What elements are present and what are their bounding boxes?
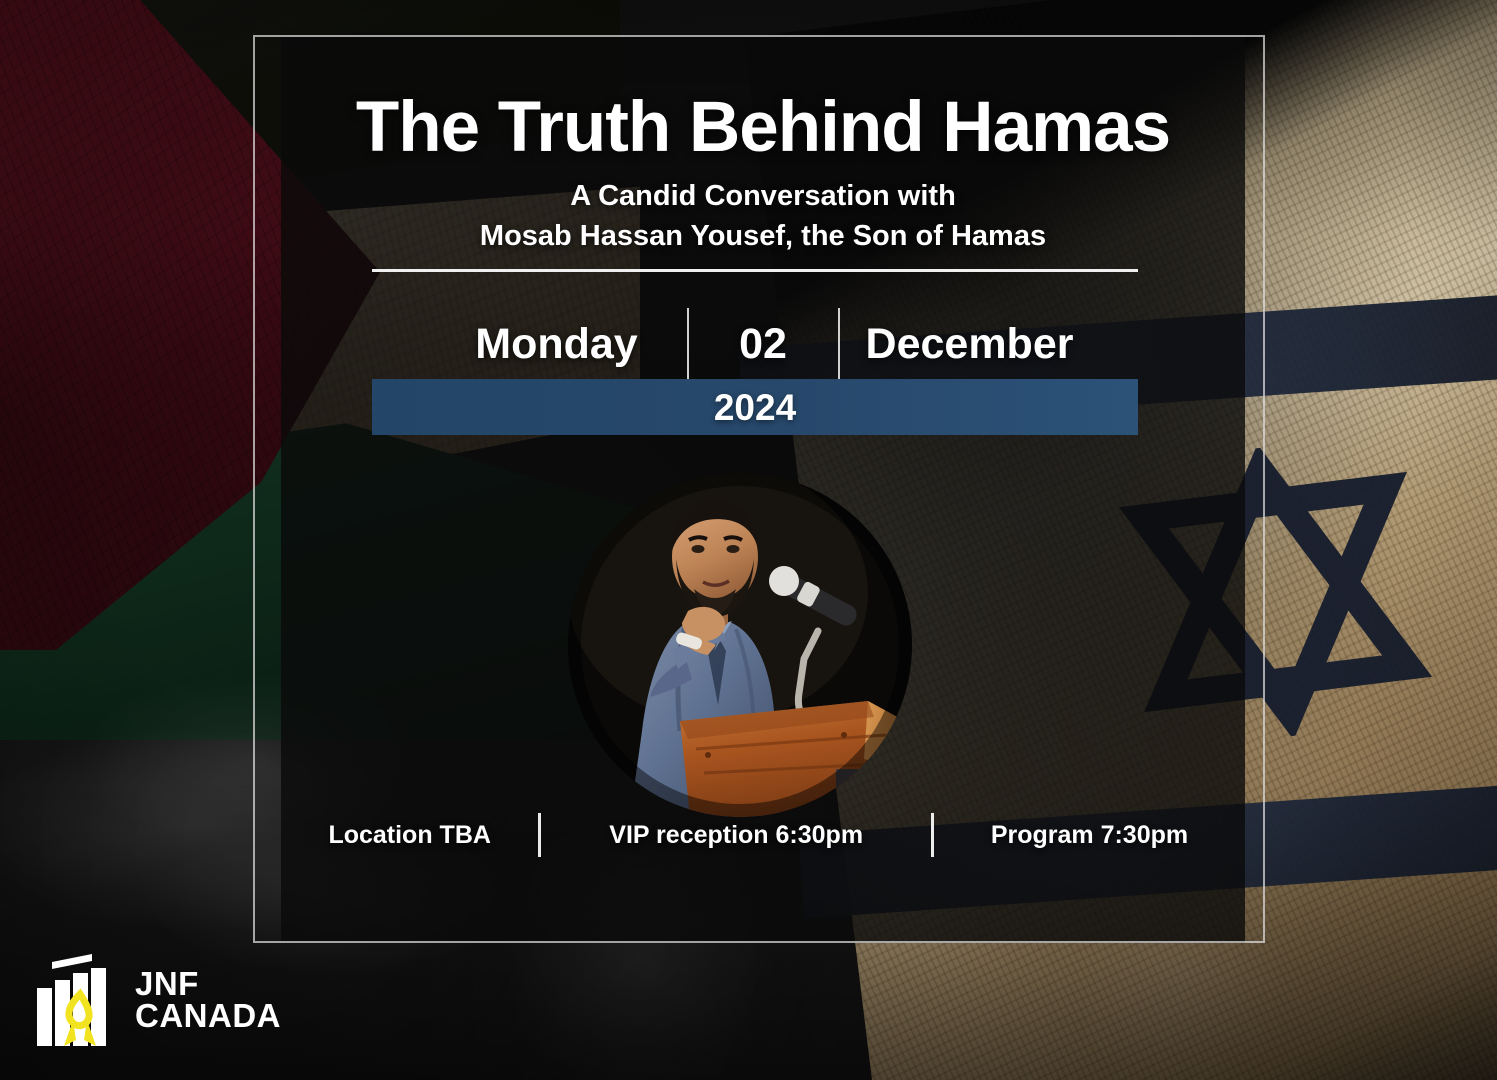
poster-subtitle: A Candid Conversation with Mosab Hassan … — [281, 176, 1245, 256]
event-location: Location TBA — [281, 823, 538, 848]
poster-content: The Truth Behind Hamas A Candid Conversa… — [281, 35, 1245, 943]
jnf-canada-logo: JNF CANADA — [36, 952, 281, 1048]
logo-line-1: JNF — [135, 968, 281, 1000]
program-time: Program 7:30pm — [934, 823, 1245, 848]
info-divider-2 — [931, 813, 934, 857]
date-divider-2 — [838, 308, 840, 380]
subtitle-line-1: A Candid Conversation with — [281, 176, 1245, 216]
date-day: 02 — [689, 323, 838, 366]
subtitle-line-2: Mosab Hassan Yousef, the Son of Hamas — [281, 216, 1245, 256]
horizontal-divider — [372, 269, 1138, 272]
vip-reception-time: VIP reception 6:30pm — [541, 823, 931, 848]
speaker-portrait-photo — [568, 473, 912, 817]
info-divider-1 — [538, 813, 541, 857]
logo-line-2: CANADA — [135, 1000, 281, 1032]
year-banner: 2024 — [372, 379, 1138, 435]
jnf-logo-mark-icon — [36, 952, 122, 1048]
date-month: December — [840, 323, 1100, 366]
date-weekday: Monday — [427, 323, 687, 366]
event-details-row: Location TBA VIP reception 6:30pm Progra… — [281, 805, 1245, 865]
event-poster: The Truth Behind Hamas A Candid Conversa… — [0, 0, 1497, 1080]
jnf-logo-text: JNF CANADA — [135, 968, 281, 1033]
poster-title: The Truth Behind Hamas — [281, 92, 1245, 163]
date-divider-1 — [687, 308, 689, 380]
date-year: 2024 — [714, 389, 796, 426]
